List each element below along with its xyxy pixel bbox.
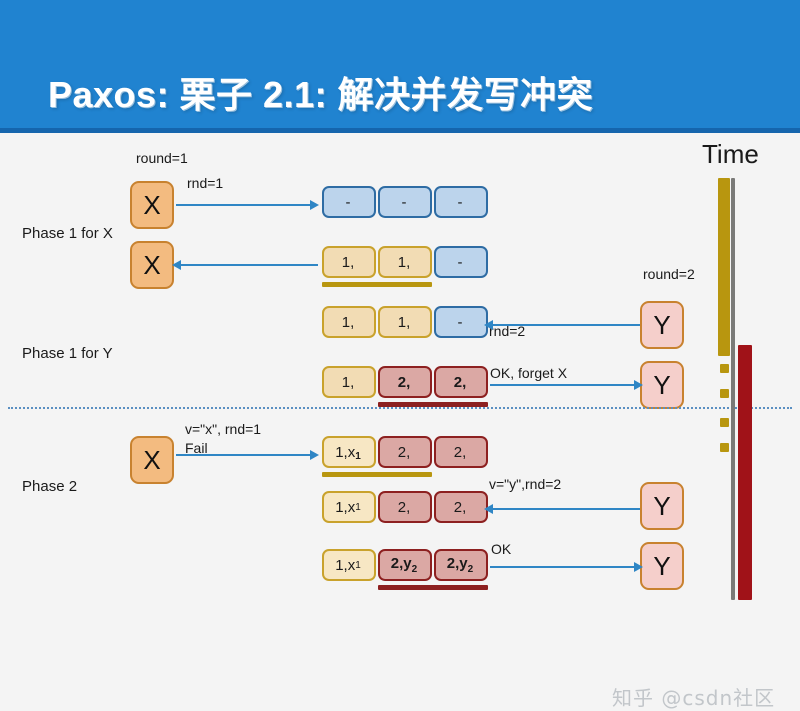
register-cell[interactable]: - (322, 186, 376, 218)
arrow-head-icon (484, 320, 493, 330)
timeline-bar-x-dash (720, 364, 729, 373)
arrow-head-icon (310, 200, 319, 210)
node-label: X (143, 445, 160, 476)
annotation-round1: round=1 (136, 150, 188, 166)
register-cell[interactable]: 1, (322, 366, 376, 398)
slide-header: Paxos: 栗子 2.1: 解决并发写冲突 (0, 0, 800, 128)
proposer-node-y-2[interactable]: Y (640, 361, 684, 409)
proposer-node-x-3[interactable]: X (130, 436, 174, 484)
annotation-v-y-rnd2: v="y",rnd=2 (489, 476, 561, 492)
page-title: Paxos: 栗子 2.1: 解决并发写冲突 (48, 66, 593, 118)
register-cell[interactable]: 1, (378, 306, 432, 338)
register-cell[interactable]: 2, (434, 491, 488, 523)
register-cell[interactable]: 1, (322, 246, 376, 278)
register-cell-text: 2, (398, 374, 411, 391)
annotation-ok: OK (491, 541, 511, 557)
timeline-bar-x-dash (720, 389, 729, 398)
register-cell[interactable]: 2,y2 (378, 549, 432, 581)
arrow-head-icon (634, 562, 643, 572)
phase-label-3: Phase 2 (22, 478, 77, 495)
register-cell-text: 2, (454, 374, 467, 391)
message-arrow-x1-reply (178, 264, 318, 266)
phase-divider (8, 407, 792, 409)
register-cell[interactable]: 2, (378, 366, 432, 398)
annotation-rnd1: rnd=1 (187, 175, 223, 191)
message-arrow-y1-request (492, 324, 640, 326)
timeline-bar-x-dash (720, 443, 729, 452)
register-cell[interactable]: 1,x1 (322, 436, 376, 468)
register-cell[interactable]: 2,y2 (434, 549, 488, 581)
proposer-node-x-2[interactable]: X (130, 241, 174, 289)
proposer-node-x-1[interactable]: X (130, 181, 174, 229)
phase-label-2: Phase 1 for Y (22, 345, 113, 362)
register-cell-text: 1,x (335, 557, 355, 574)
proposer-node-y-1[interactable]: Y (640, 301, 684, 349)
register-cell-subscript: 1 (355, 502, 361, 513)
proposer-node-y-4[interactable]: Y (640, 542, 684, 590)
register-cell-subscript: 1 (355, 451, 361, 462)
timeline-bar-x (718, 178, 730, 356)
register-cell[interactable]: 2, (434, 436, 488, 468)
register-cell-text: 2,y (391, 555, 412, 572)
quorum-underline (322, 472, 432, 477)
register-cell-subscript: 2 (468, 564, 474, 575)
time-axis-label: Time (702, 139, 759, 170)
register-cell[interactable]: 1, (322, 306, 376, 338)
register-cell[interactable]: 2, (378, 436, 432, 468)
message-arrow-y1-reply (490, 384, 636, 386)
table-row: 1, 2, 2, (322, 366, 488, 398)
quorum-underline (322, 282, 432, 287)
message-arrow-x2-accept (176, 454, 312, 456)
register-cell-text: 1,x (335, 444, 355, 461)
register-cell[interactable]: 1, (378, 246, 432, 278)
diagram-canvas: Phase 1 for X Phase 1 for Y Phase 2 roun… (0, 133, 800, 600)
register-cell[interactable]: - (378, 186, 432, 218)
register-cell-subscript: 2 (412, 564, 418, 575)
register-cell[interactable]: 2, (378, 491, 432, 523)
phase-label-1: Phase 1 for X (22, 225, 113, 242)
quorum-underline (378, 585, 488, 590)
table-row: 1,x1 2,y2 2,y2 (322, 549, 488, 581)
node-label: Y (653, 370, 670, 401)
annotation-round2: round=2 (643, 266, 695, 282)
node-label: Y (653, 310, 670, 341)
node-label: Y (653, 491, 670, 522)
register-cell[interactable]: - (434, 306, 488, 338)
node-label: X (143, 250, 160, 281)
time-axis-line (731, 178, 735, 600)
table-row: 1,x1 2, 2, (322, 491, 488, 523)
node-label: X (143, 190, 160, 221)
register-cell[interactable]: 1,x1 (322, 549, 376, 581)
register-cell-subscript: 1 (355, 560, 361, 571)
timeline-bar-y (738, 345, 752, 600)
message-arrow-y2-accept (492, 508, 640, 510)
register-cell[interactable]: - (434, 186, 488, 218)
proposer-node-y-3[interactable]: Y (640, 482, 684, 530)
register-cell[interactable]: 2, (434, 366, 488, 398)
node-label: Y (653, 551, 670, 582)
annotation-v-x-rnd1: v="x", rnd=1 (185, 421, 261, 437)
arrow-head-icon (634, 380, 643, 390)
register-cell[interactable]: - (434, 246, 488, 278)
table-row: - - - (322, 186, 488, 218)
watermark: 知乎 @csdn社区 (612, 682, 775, 711)
annotation-ok-forget-x: OK, forget X (490, 365, 567, 381)
register-cell[interactable]: 1,x1 (322, 491, 376, 523)
arrow-head-icon (484, 504, 493, 514)
register-cell-text: 2,y (447, 555, 468, 572)
message-arrow-y2-ok (490, 566, 636, 568)
table-row: 1, 1, - (322, 306, 488, 338)
table-row: 1,x1 2, 2, (322, 436, 488, 468)
message-arrow-x1-request (176, 204, 312, 206)
table-row: 1, 1, - (322, 246, 488, 278)
arrow-head-icon (310, 450, 319, 460)
register-cell-text: 1,x (335, 499, 355, 516)
timeline-bar-x-dash (720, 418, 729, 427)
arrow-head-icon (172, 260, 181, 270)
